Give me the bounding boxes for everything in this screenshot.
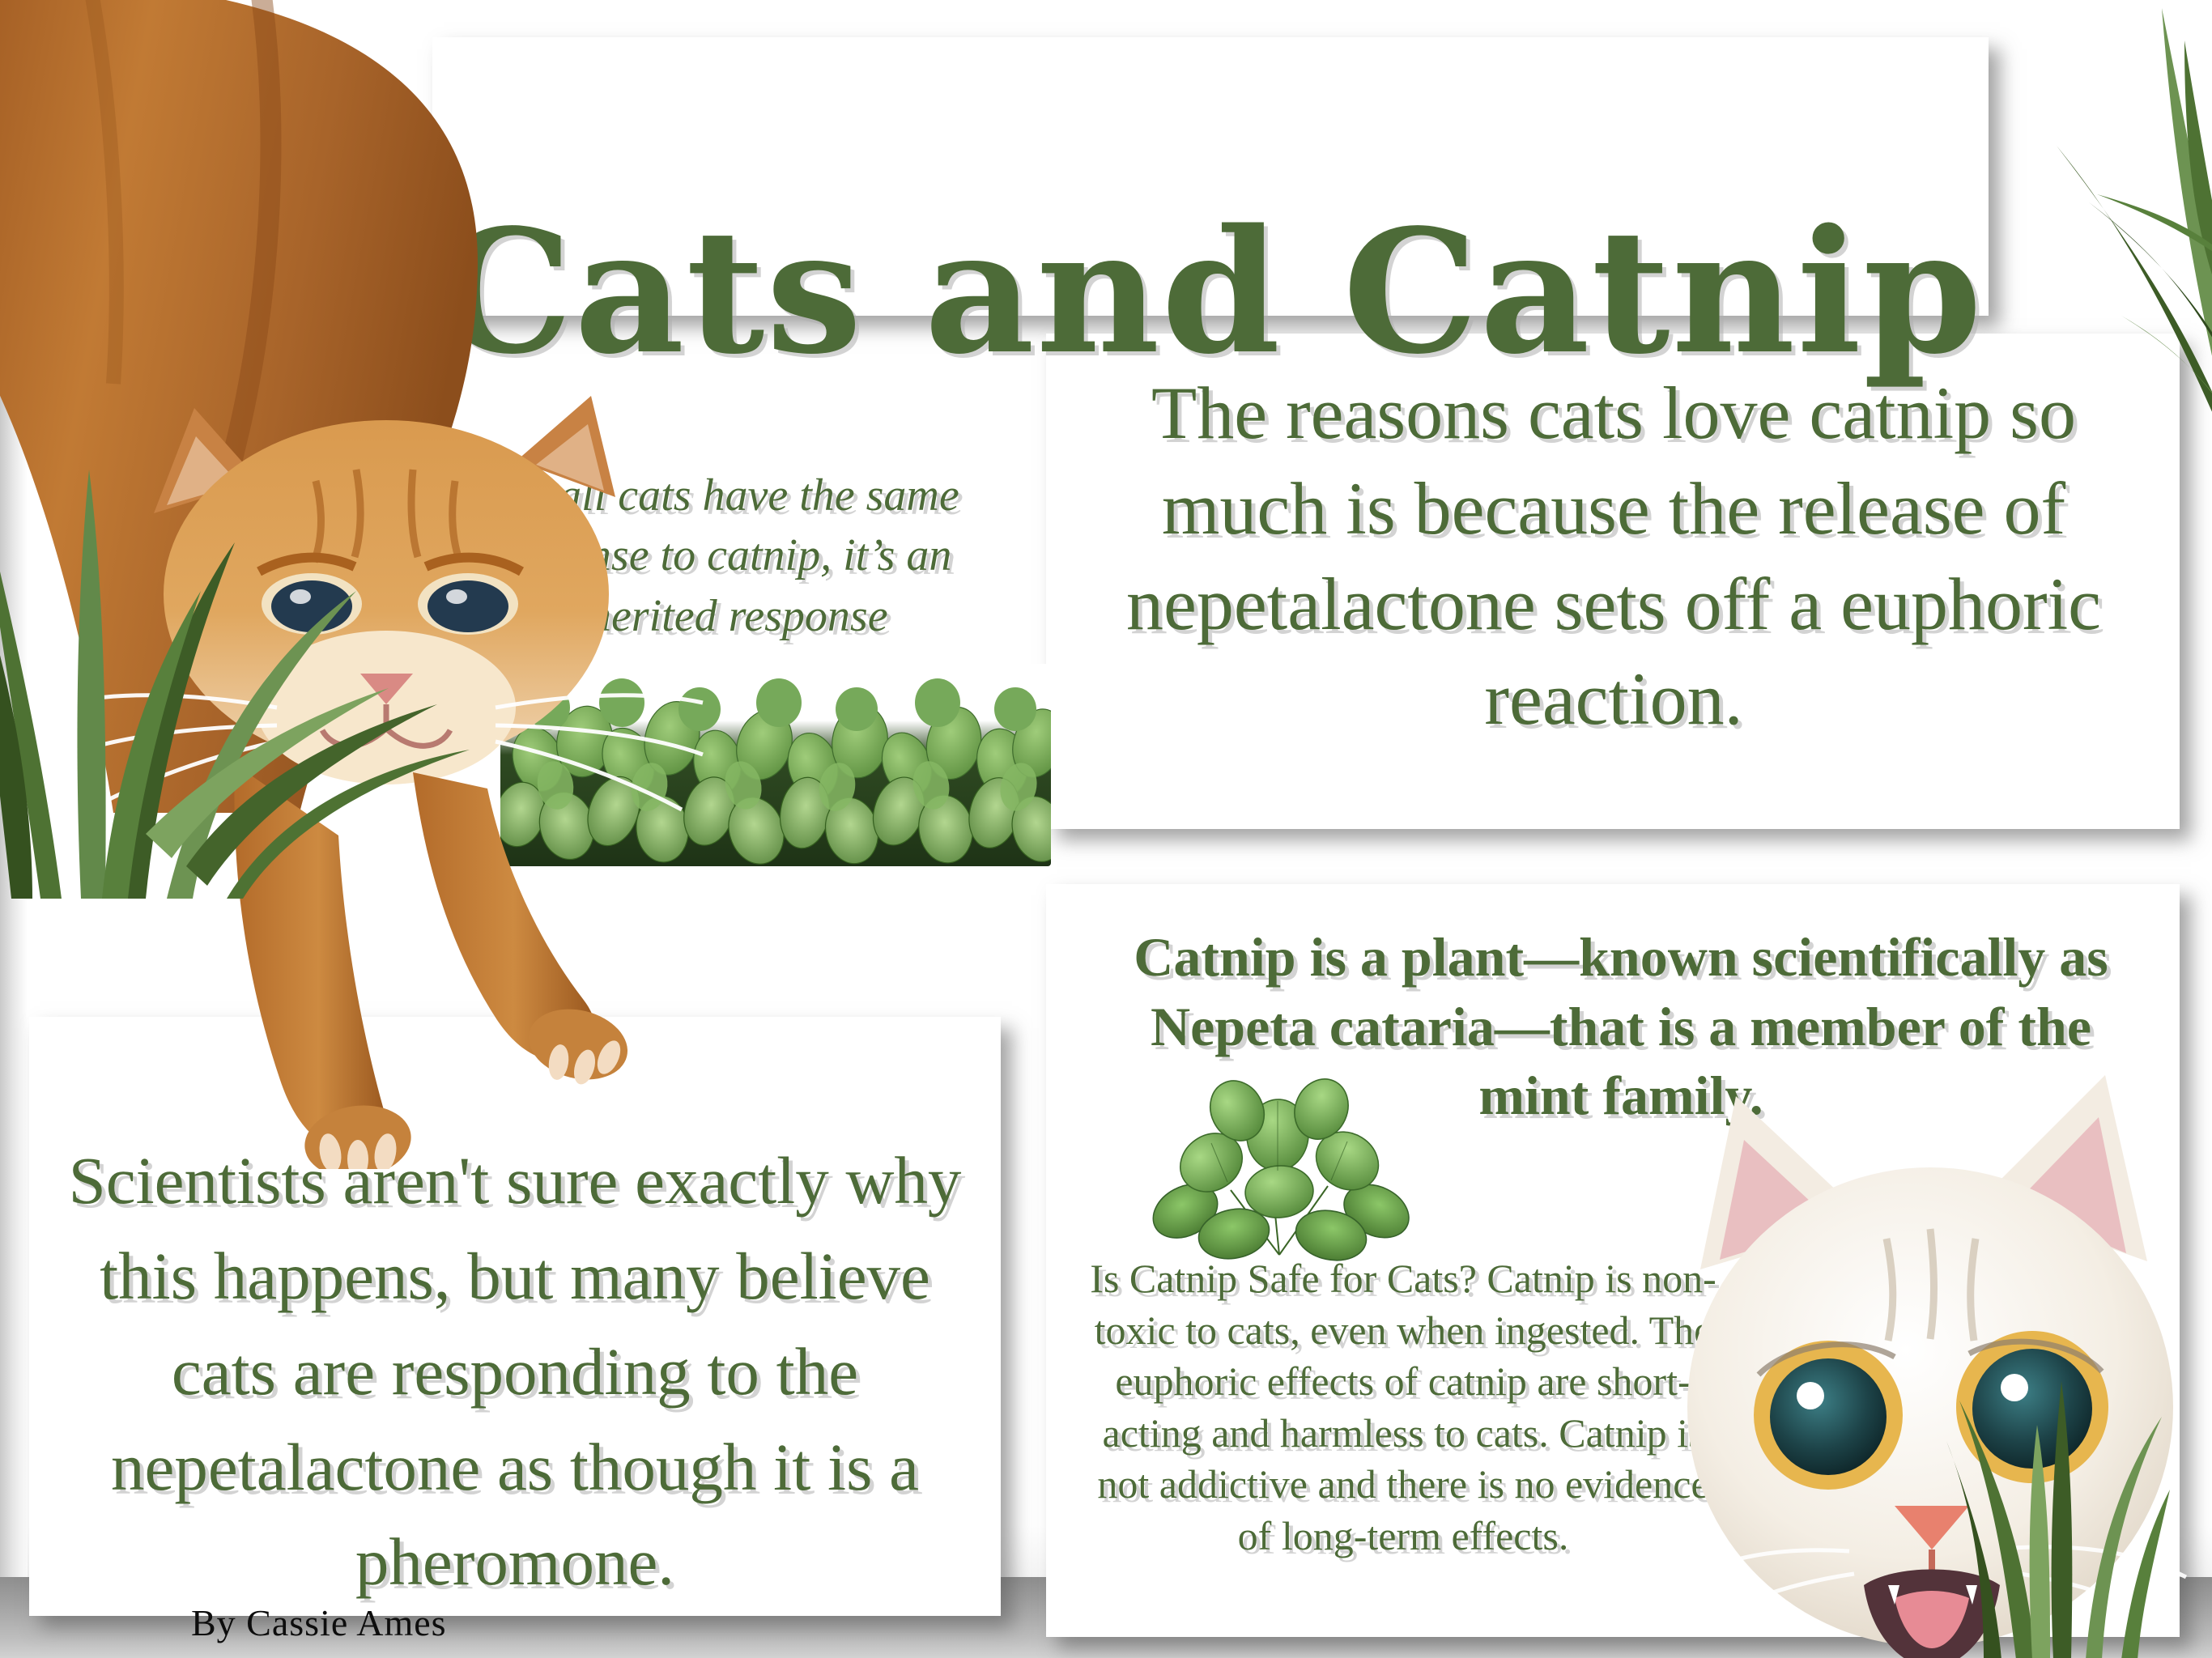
page-left-edge	[0, 0, 28, 1658]
byline: By Cassie Ames	[191, 1601, 447, 1644]
plant-definition-text: Catnip is a plant—known scientifically a…	[1111, 923, 2131, 1131]
reasons-fact-text: The reasons cats love catnip so much is …	[1062, 366, 2165, 747]
safety-note-text: Is Catnip Safe for Cats? Catnip is non-t…	[1083, 1253, 1723, 1562]
grass-left-decoration	[0, 300, 502, 899]
scientists-note-text: Scientists aren't sure exactly why this …	[45, 1133, 985, 1610]
poster-canvas: Cats and Catnip Not all cats have the sa…	[0, 0, 2212, 1658]
inherited-response-note: Not all cats have the same response to c…	[437, 466, 1004, 646]
catnip-bed-image	[500, 664, 1051, 866]
